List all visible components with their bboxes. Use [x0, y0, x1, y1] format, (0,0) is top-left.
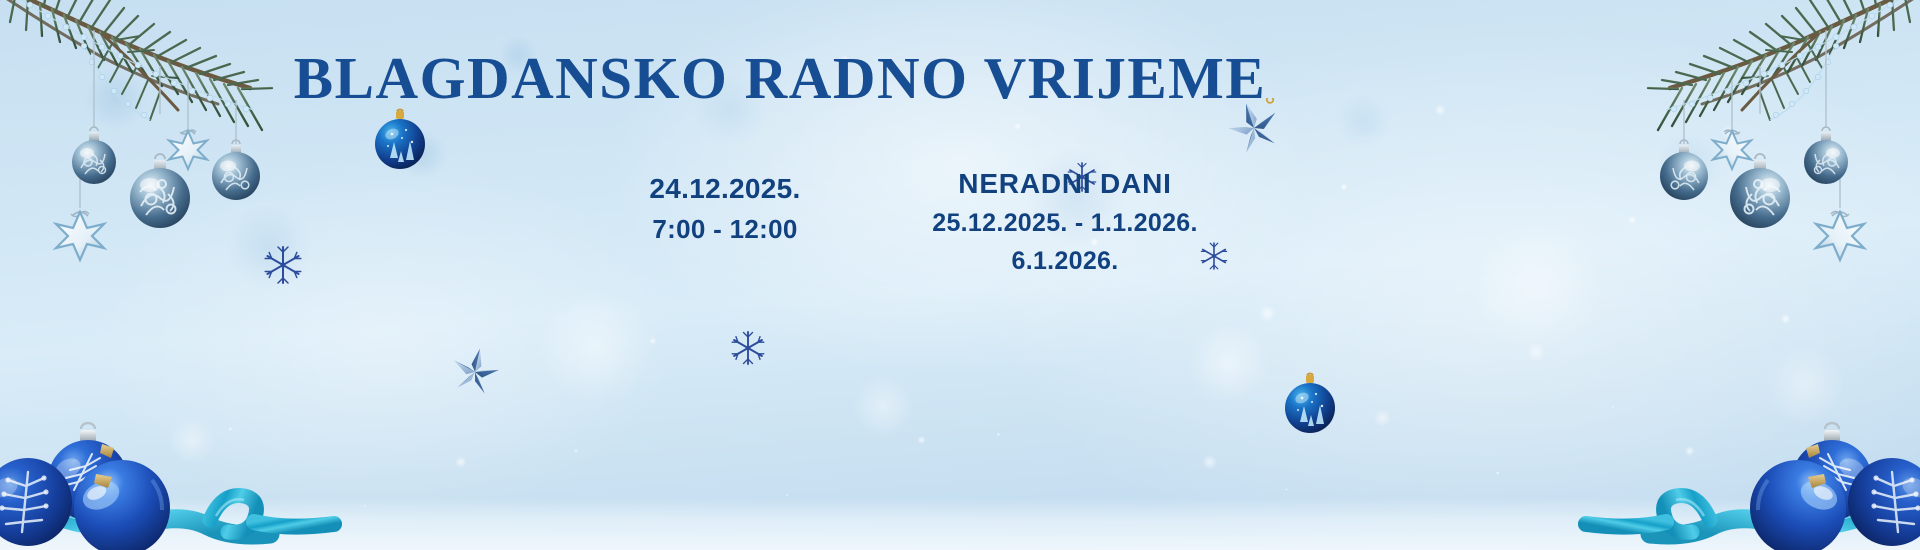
blue-baubles-ribbon-bottom-right — [1550, 396, 1920, 550]
working-hours-block: 24.12.2025. 7:00 - 12:00 — [649, 173, 800, 245]
working-hours-range: 7:00 - 12:00 — [649, 214, 800, 245]
blue-baubles-ribbon-bottom-left — [0, 396, 370, 550]
snowflake-icon — [726, 326, 770, 375]
glossy-bauble-icon — [74, 460, 170, 550]
six-point-star-icon — [56, 212, 104, 261]
ornate-bauble-icon — [1660, 140, 1708, 200]
fir-tree-bauble-icon — [372, 108, 428, 177]
pine-branch-ornaments-top-left — [0, 0, 282, 270]
closed-days-heading: NERADNI DANI — [932, 168, 1197, 200]
satin-ribbon-icon — [1586, 496, 1920, 536]
working-hours-date: 24.12.2025. — [649, 173, 800, 205]
closed-days-extra-day: 6.1.2026. — [932, 247, 1197, 276]
satin-ribbon-icon — [0, 496, 334, 536]
snowflake-bauble-icon — [1792, 423, 1872, 520]
glossy-bauble-icon — [1750, 460, 1846, 550]
six-point-star-icon — [1816, 212, 1864, 261]
six-point-star-icon — [1713, 130, 1751, 169]
page-title-text: BLAGDANSKO RADNO VRIJEME — [294, 44, 1266, 113]
ornate-bauble-icon — [212, 140, 260, 200]
snowflake-bauble-icon — [0, 458, 72, 546]
snowflake-bauble-icon — [1848, 458, 1920, 546]
snow-ground-shelf — [0, 498, 1920, 550]
holiday-hours-banner: BLAGDANSKO RADNO VRIJEME 24.12.2025. 7:0… — [0, 0, 1920, 550]
star-3d-icon — [447, 344, 503, 405]
ornate-bauble-icon — [1730, 154, 1790, 228]
ornate-bauble-icon — [130, 154, 190, 228]
closed-days-block: NERADNI DANI 25.12.2025. - 1.1.2026. 6.1… — [932, 168, 1197, 276]
ornate-bauble-icon — [1804, 127, 1848, 184]
fir-tree-bauble-icon — [1282, 372, 1338, 441]
snowflake-icon — [259, 241, 307, 294]
snowflake-bauble-icon — [48, 423, 128, 520]
six-point-star-icon — [169, 130, 207, 169]
snowflake-icon — [1196, 238, 1232, 279]
closed-days-range: 25.12.2025. - 1.1.2026. — [932, 209, 1197, 238]
ornate-bauble-icon — [72, 127, 116, 184]
pine-branch-ornaments-top-right — [1638, 0, 1920, 270]
page-title: BLAGDANSKO RADNO VRIJEME — [0, 44, 1920, 113]
